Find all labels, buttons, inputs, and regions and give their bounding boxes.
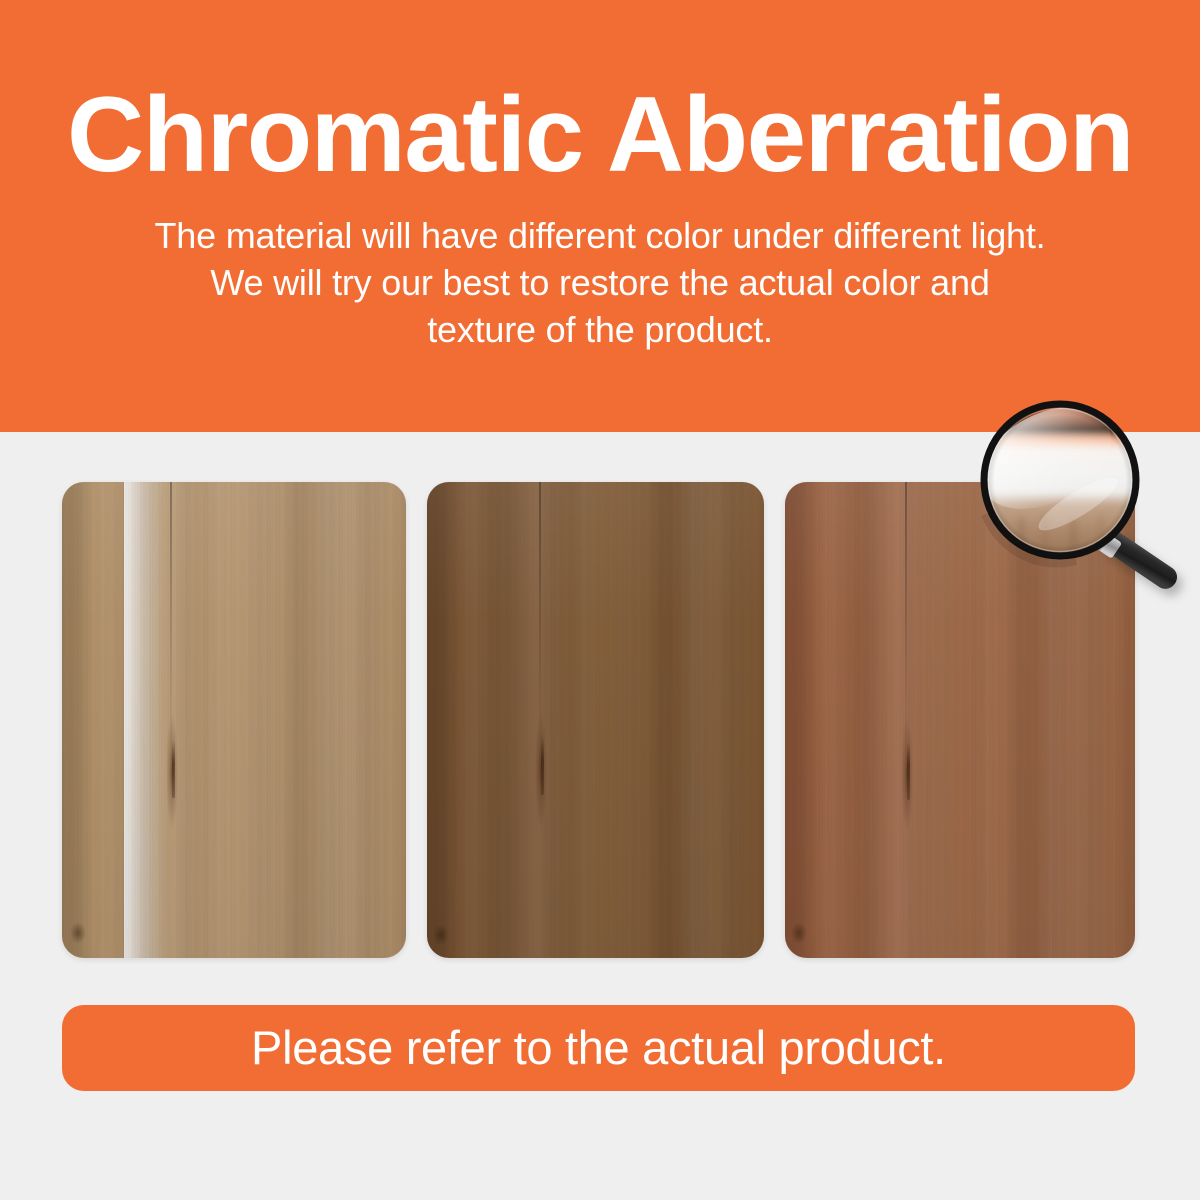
swatch-knot-tail bbox=[541, 737, 544, 795]
light-oak-swatch[interactable] bbox=[62, 482, 406, 958]
page-title: Chromatic Aberration bbox=[0, 78, 1200, 190]
swatch-grain-shading bbox=[62, 482, 406, 958]
bottom-banner-text: Please refer to the actual product. bbox=[251, 1023, 946, 1073]
subtitle-line-3: texture of the product. bbox=[60, 306, 1140, 353]
swatch-grain-shading bbox=[427, 482, 764, 958]
header-band: Chromatic Aberration The material will h… bbox=[0, 0, 1200, 432]
infographic-canvas: Chromatic Aberration The material will h… bbox=[0, 0, 1200, 1200]
dark-walnut-swatch[interactable] bbox=[427, 482, 764, 958]
bottom-banner[interactable]: Please refer to the actual product. bbox=[62, 1005, 1135, 1091]
subtitle-line-1: The material will have different color u… bbox=[60, 212, 1140, 259]
subtitle-line-2: We will try our best to restore the actu… bbox=[60, 259, 1140, 306]
swatch-corner-nick bbox=[70, 922, 86, 944]
swatch-knot-tail bbox=[907, 742, 910, 800]
swatch-corner-nick bbox=[433, 924, 449, 946]
magnifying-glass-svg bbox=[960, 388, 1200, 608]
magnifying-glass-icon[interactable] bbox=[960, 388, 1200, 608]
swatch-corner-nick bbox=[791, 922, 807, 944]
page-subtitle: The material will have different color u… bbox=[60, 212, 1140, 353]
swatch-knot-tail bbox=[172, 740, 175, 798]
